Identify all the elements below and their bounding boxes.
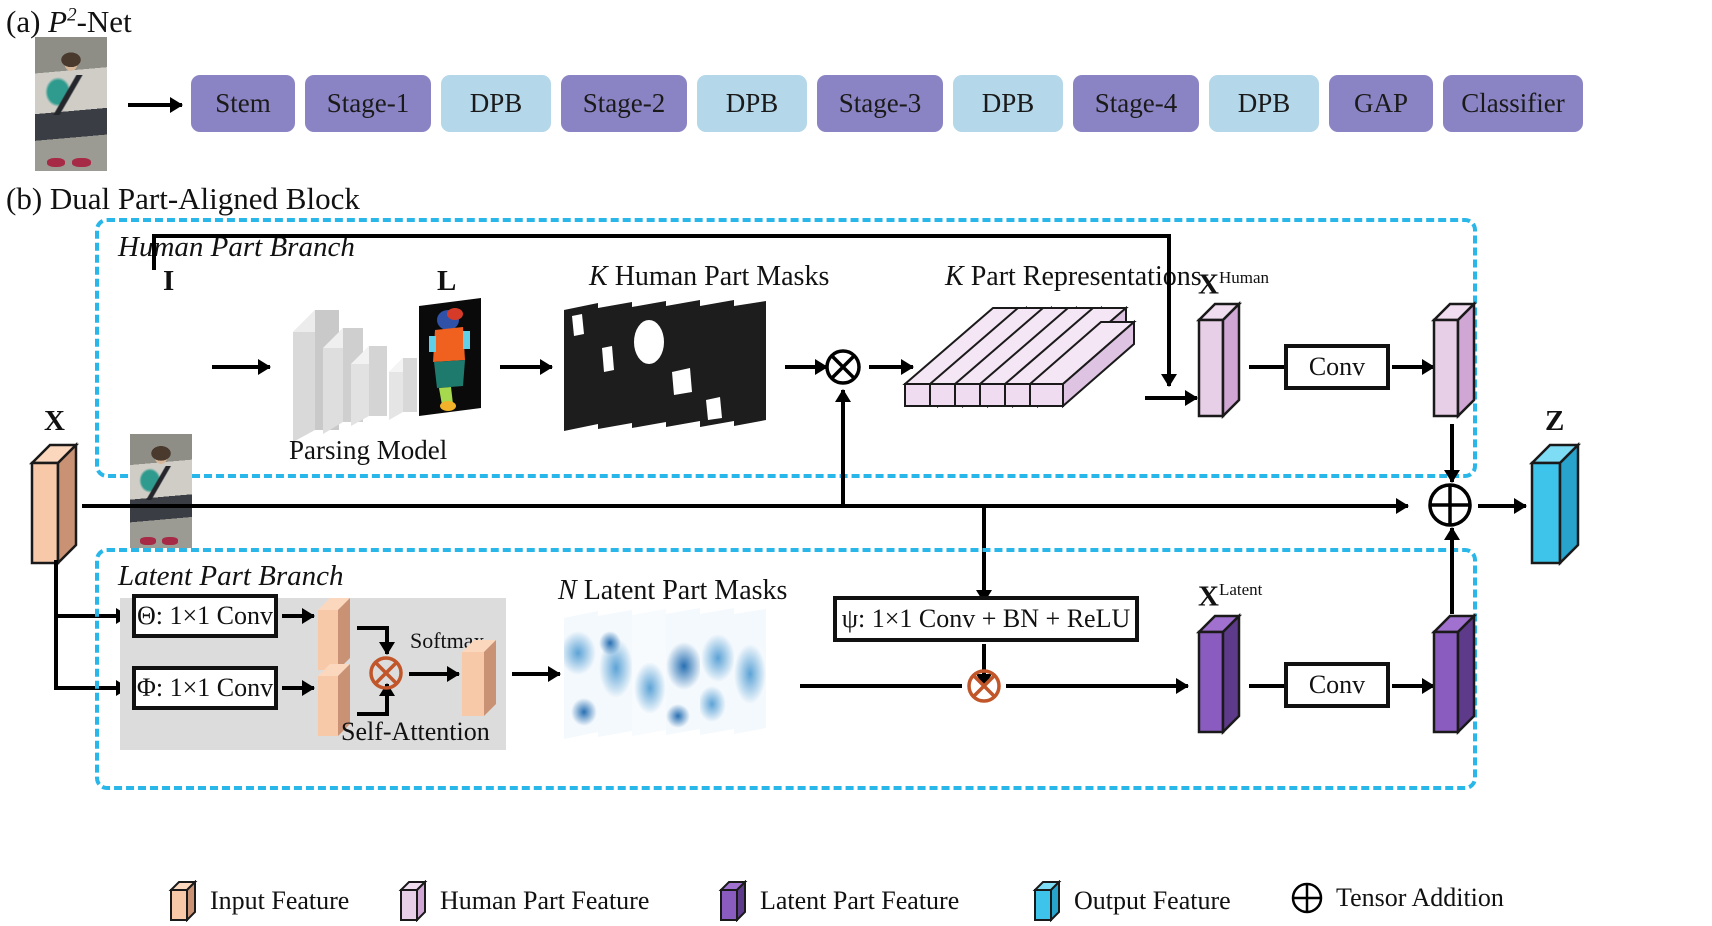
reps-title-italic: K	[945, 261, 964, 292]
input-person-photo-a	[35, 37, 107, 171]
human-masks-title: K Human Part Masks	[589, 261, 829, 293]
pipeline-block-label: DPB	[982, 88, 1035, 119]
latent-masks-title: N Latent Part Masks	[558, 575, 787, 607]
psi-conv-box[interactable]: ψ: 1×1 Conv + BN + ReLU	[833, 596, 1139, 642]
arrow-softmax	[409, 672, 459, 676]
multiply-operator-latent	[966, 668, 1002, 704]
latent-branch-output-slab	[1430, 612, 1478, 736]
legend-label: Input Feature	[210, 886, 349, 916]
self-attention-label: Self-Attention	[341, 717, 490, 747]
human-masks-title-italic: K	[589, 261, 608, 292]
arrow-label-to-masks	[500, 365, 552, 369]
pipeline-block-label: GAP	[1354, 88, 1408, 119]
shoe-right-icon	[72, 158, 91, 167]
slab-icon	[168, 880, 198, 922]
shoe-left-icon	[47, 158, 66, 167]
multiply-operator-attention	[368, 655, 404, 691]
line-latent-feature-to-conv	[1249, 684, 1285, 688]
legend-item-output-feature: Output Feature	[1032, 880, 1231, 922]
human-feature-symbol-base: X	[1198, 269, 1219, 301]
panel-b-caption: (b) Dual Part-Aligned Block	[6, 181, 360, 217]
pipeline-block-label: DPB	[726, 88, 779, 119]
pipeline-block-stage-3[interactable]: Stage-3	[817, 75, 943, 132]
output-feature-slab	[1528, 437, 1582, 567]
pipeline-block-label: Stage-4	[1095, 88, 1177, 119]
arrow-conv-to-latent-output	[1392, 684, 1434, 688]
arrow-image-to-parsing	[212, 365, 270, 369]
skip-connection-line	[82, 504, 1408, 508]
legend-label: Human Part Feature	[440, 886, 649, 916]
pipeline-block-label: Stage-2	[583, 88, 665, 119]
slab-icon	[718, 880, 748, 922]
shoe-left-icon	[140, 537, 156, 545]
legend-label: Output Feature	[1074, 886, 1231, 916]
human-branch-label-symbol: L	[437, 265, 456, 298]
arrow-latent-output-to-sum	[1450, 528, 1454, 614]
tensor-addition-node	[1426, 481, 1474, 529]
phi-conv-label: Φ: 1×1 Conv	[137, 673, 273, 703]
arrow-attention-to-latent-masks	[512, 672, 560, 676]
arrow-latent-masks-to-multiply	[800, 684, 962, 688]
latent-feature-symbol-sup: Latent	[1219, 580, 1262, 599]
arrow-reps-to-human-feature	[1145, 396, 1197, 400]
theta-conv-box[interactable]: Θ: 1×1 Conv	[132, 594, 278, 638]
panel-a-caption-sup: 2	[67, 5, 77, 26]
panel-a-caption-italic: P	[48, 4, 67, 39]
pipeline-block-label: Stage-3	[839, 88, 921, 119]
feedback-line-left-drop	[152, 234, 156, 270]
human-part-feature-slab	[1195, 300, 1243, 420]
legend-item-tensor-addition: Tensor Addition	[1290, 880, 1504, 916]
arrow-masks-to-multiply	[785, 365, 827, 369]
pipeline-block-dpb-2[interactable]: DPB	[697, 75, 807, 132]
legend-item-human-part-feature: Human Part Feature	[398, 880, 649, 922]
latent-part-branch-title: Latent Part Branch	[118, 560, 344, 593]
reps-title-rest: Part Representations	[964, 261, 1202, 292]
pipeline-block-stage-4[interactable]: Stage-4	[1073, 75, 1199, 132]
human-feature-symbol-sup: Human	[1219, 268, 1269, 287]
output-feature-symbol: Z	[1545, 405, 1564, 438]
part-representations-stack	[900, 298, 1140, 416]
arrow-conv-to-human-output	[1392, 365, 1434, 369]
latent-feature-symbol-base: X	[1198, 581, 1219, 613]
panel-a-caption-suffix: -Net	[77, 4, 132, 39]
latent-masks-title-rest: Latent Part Masks	[577, 575, 788, 606]
human-masks-title-rest: Human Part Masks	[608, 261, 830, 292]
pipeline-block-gap[interactable]: GAP	[1329, 75, 1433, 132]
pipeline-block-label: DPB	[1238, 88, 1291, 119]
pipeline-block-label: Classifier	[1461, 88, 1564, 119]
shoe-right-icon	[162, 537, 178, 545]
pipeline-block-stem[interactable]: Stem	[191, 75, 295, 132]
elbow-theta-vertical	[385, 626, 389, 654]
arrow-sum-to-output	[1478, 504, 1526, 508]
pipeline-block-stage-2[interactable]: Stage-2	[561, 75, 687, 132]
legend-item-input-feature: Input Feature	[168, 880, 349, 922]
panel-a-caption-prefix: (a)	[6, 4, 48, 39]
latent-conv-box[interactable]: Conv	[1284, 662, 1390, 708]
parsed-label-map	[415, 298, 485, 416]
pipeline-block-dpb-4[interactable]: DPB	[1209, 75, 1319, 132]
arrow-multiply-to-latent-feature	[1006, 684, 1188, 688]
feedback-line-horizontal	[152, 234, 1170, 238]
human-conv-box[interactable]: Conv	[1284, 344, 1390, 390]
phi-conv-box[interactable]: Φ: 1×1 Conv	[132, 666, 278, 710]
arrow-photo-to-pipeline	[128, 103, 182, 107]
human-conv-label: Conv	[1309, 352, 1365, 382]
pipeline-block-dpb-3[interactable]: DPB	[953, 75, 1063, 132]
plus-circle-icon	[1290, 880, 1324, 916]
latent-part-masks-stack	[560, 608, 770, 740]
legend-label: Tensor Addition	[1336, 883, 1504, 913]
latent-feature-symbol: XLatent	[1198, 580, 1262, 614]
attention-output-slab	[460, 636, 498, 718]
multiply-operator-human	[824, 348, 862, 386]
latent-masks-title-italic: N	[558, 575, 577, 606]
human-branch-output-slab	[1430, 300, 1478, 420]
pipeline-block-dpb-1[interactable]: DPB	[441, 75, 551, 132]
input-person-photo-b	[130, 434, 192, 548]
theta-conv-label: Θ: 1×1 Conv	[137, 601, 273, 631]
slab-icon	[1032, 880, 1062, 922]
branch-up-to-human-multiply	[841, 390, 845, 506]
arrow-human-output-to-sum	[1450, 424, 1454, 482]
arrow-phi-to-slab	[282, 686, 314, 690]
part-representations-title: K Part Representations	[945, 261, 1202, 293]
pipeline-block-label: DPB	[470, 88, 523, 119]
legend-label: Latent Part Feature	[760, 886, 959, 916]
input-feature-symbol: X	[44, 405, 65, 438]
legend-item-latent-part-feature: Latent Part Feature	[718, 880, 959, 922]
pipeline-block-label: Stage-1	[327, 88, 409, 119]
latent-feed-vertical	[54, 560, 58, 688]
human-part-masks-stack	[560, 300, 770, 432]
parsing-model-label: Parsing Model	[289, 435, 447, 466]
line-human-feature-to-conv	[1249, 365, 1285, 369]
psi-conv-label: ψ: 1×1 Conv + BN + ReLU	[842, 604, 1131, 634]
pipeline-block-label: Stem	[215, 88, 271, 119]
input-feature-slab	[28, 437, 80, 567]
human-branch-input-symbol: I	[163, 265, 174, 298]
feedback-arrow-to-human-feature	[1167, 234, 1171, 386]
arrow-theta-to-slab	[282, 614, 314, 618]
latent-part-feature-slab	[1195, 612, 1243, 736]
pipeline-block-classifier[interactable]: Classifier	[1443, 75, 1583, 132]
latent-conv-label: Conv	[1309, 670, 1365, 700]
pipeline-block-stage-1[interactable]: Stage-1	[305, 75, 431, 132]
theta-feature-slab	[316, 596, 352, 672]
human-feature-symbol: XHuman	[1198, 268, 1269, 302]
slab-icon	[398, 880, 428, 922]
panel-a-caption: (a) P2-Net	[6, 4, 132, 40]
